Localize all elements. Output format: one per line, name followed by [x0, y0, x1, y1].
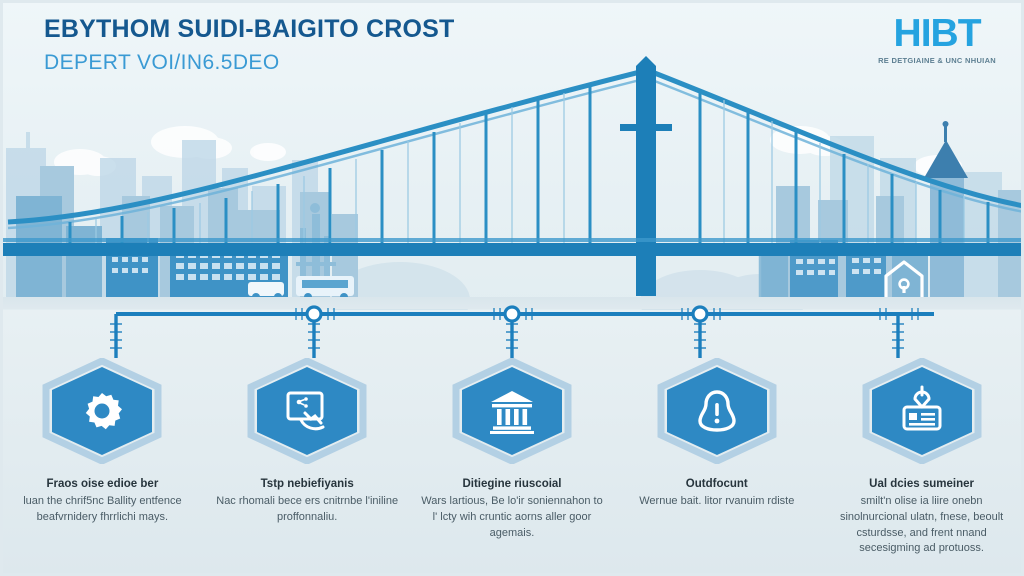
- infographic-canvas: EBYTHOM SUIDI-BAIGITO CROST DEPERT VOI/I…: [0, 0, 1024, 576]
- step-item-5[interactable]: Ual dcies sumeiner smilt'n olise ia liir…: [819, 358, 1024, 568]
- page-title: EBYTHOM SUIDI-BAIGITO CROST: [44, 16, 455, 44]
- step-body-5: smilt'n olise ia liire onebn sinolnurcio…: [829, 494, 1015, 558]
- bank-icon: [450, 358, 574, 464]
- step-item-3[interactable]: Ditiegine riuscoial Wars lartious, Be lo…: [410, 358, 615, 568]
- step-caption-4: Outdfocunt Wernue bait. litor rvanuim rd…: [624, 476, 810, 510]
- bridge-deck: [0, 243, 1024, 256]
- hex-badge-4[interactable]: [655, 358, 779, 464]
- screen-hand-icon: [245, 358, 369, 464]
- step-title-1: Fraos oise edioe ber: [9, 476, 195, 493]
- step-caption-3: Ditiegine riuscoial Wars lartious, Be lo…: [419, 476, 605, 541]
- step-item-2[interactable]: Tstp nebiefiyanis Nac rhomali bece ers c…: [205, 358, 410, 568]
- page-subtitle: DEPERT VOI/IN6.5DEO: [44, 51, 455, 74]
- step-title-4: Outdfocunt: [624, 476, 810, 493]
- step-body-2: Nac rhomali bece ers cnitrnbe l'iniline …: [214, 494, 400, 526]
- hex-badge-1[interactable]: [40, 358, 164, 464]
- step-body-3: Wars lartious, Be lo'ir soniennahon to l…: [419, 494, 605, 542]
- step-title-3: Ditiegine riuscoial: [419, 476, 605, 493]
- step-caption-2: Tstp nebiefiyanis Nac rhomali bece ers c…: [214, 476, 400, 526]
- step-caption-1: Fraos oise edioe ber luan the chrif5nc B…: [9, 476, 195, 526]
- hex-badge-2[interactable]: [245, 358, 369, 464]
- step-title-5: Ual dcies sumeiner: [829, 476, 1015, 493]
- hex-badge-5[interactable]: [860, 358, 984, 464]
- logo-wordmark: HIBT: [878, 14, 996, 53]
- step-item-1[interactable]: Fraos oise edioe ber luan the chrif5nc B…: [0, 358, 205, 568]
- step-body-4: Wernue bait. litor rvanuim rdiste: [624, 494, 810, 510]
- logo-tagline: RE DETGIAINE & UNC NHUIAN: [878, 56, 996, 65]
- brand-logo: HIBT RE DETGIAINE & UNC NHUIAN: [878, 14, 996, 65]
- hex-badge-3[interactable]: [450, 358, 574, 464]
- alert-icon: [655, 358, 779, 464]
- step-item-4[interactable]: Outdfocunt Wernue bait. litor rvanuim rd…: [614, 358, 819, 568]
- header-block: EBYTHOM SUIDI-BAIGITO CROST DEPERT VOI/I…: [44, 16, 455, 74]
- step-caption-5: Ual dcies sumeiner smilt'n olise ia liir…: [829, 476, 1015, 557]
- step-row: Fraos oise edioe ber luan the chrif5nc B…: [0, 358, 1024, 568]
- step-body-1: luan the chrif5nc Ballity entfence beafv…: [9, 494, 195, 526]
- id-badge-icon: [860, 358, 984, 464]
- gear-icon: [40, 358, 164, 464]
- step-title-2: Tstp nebiefiyanis: [214, 476, 400, 493]
